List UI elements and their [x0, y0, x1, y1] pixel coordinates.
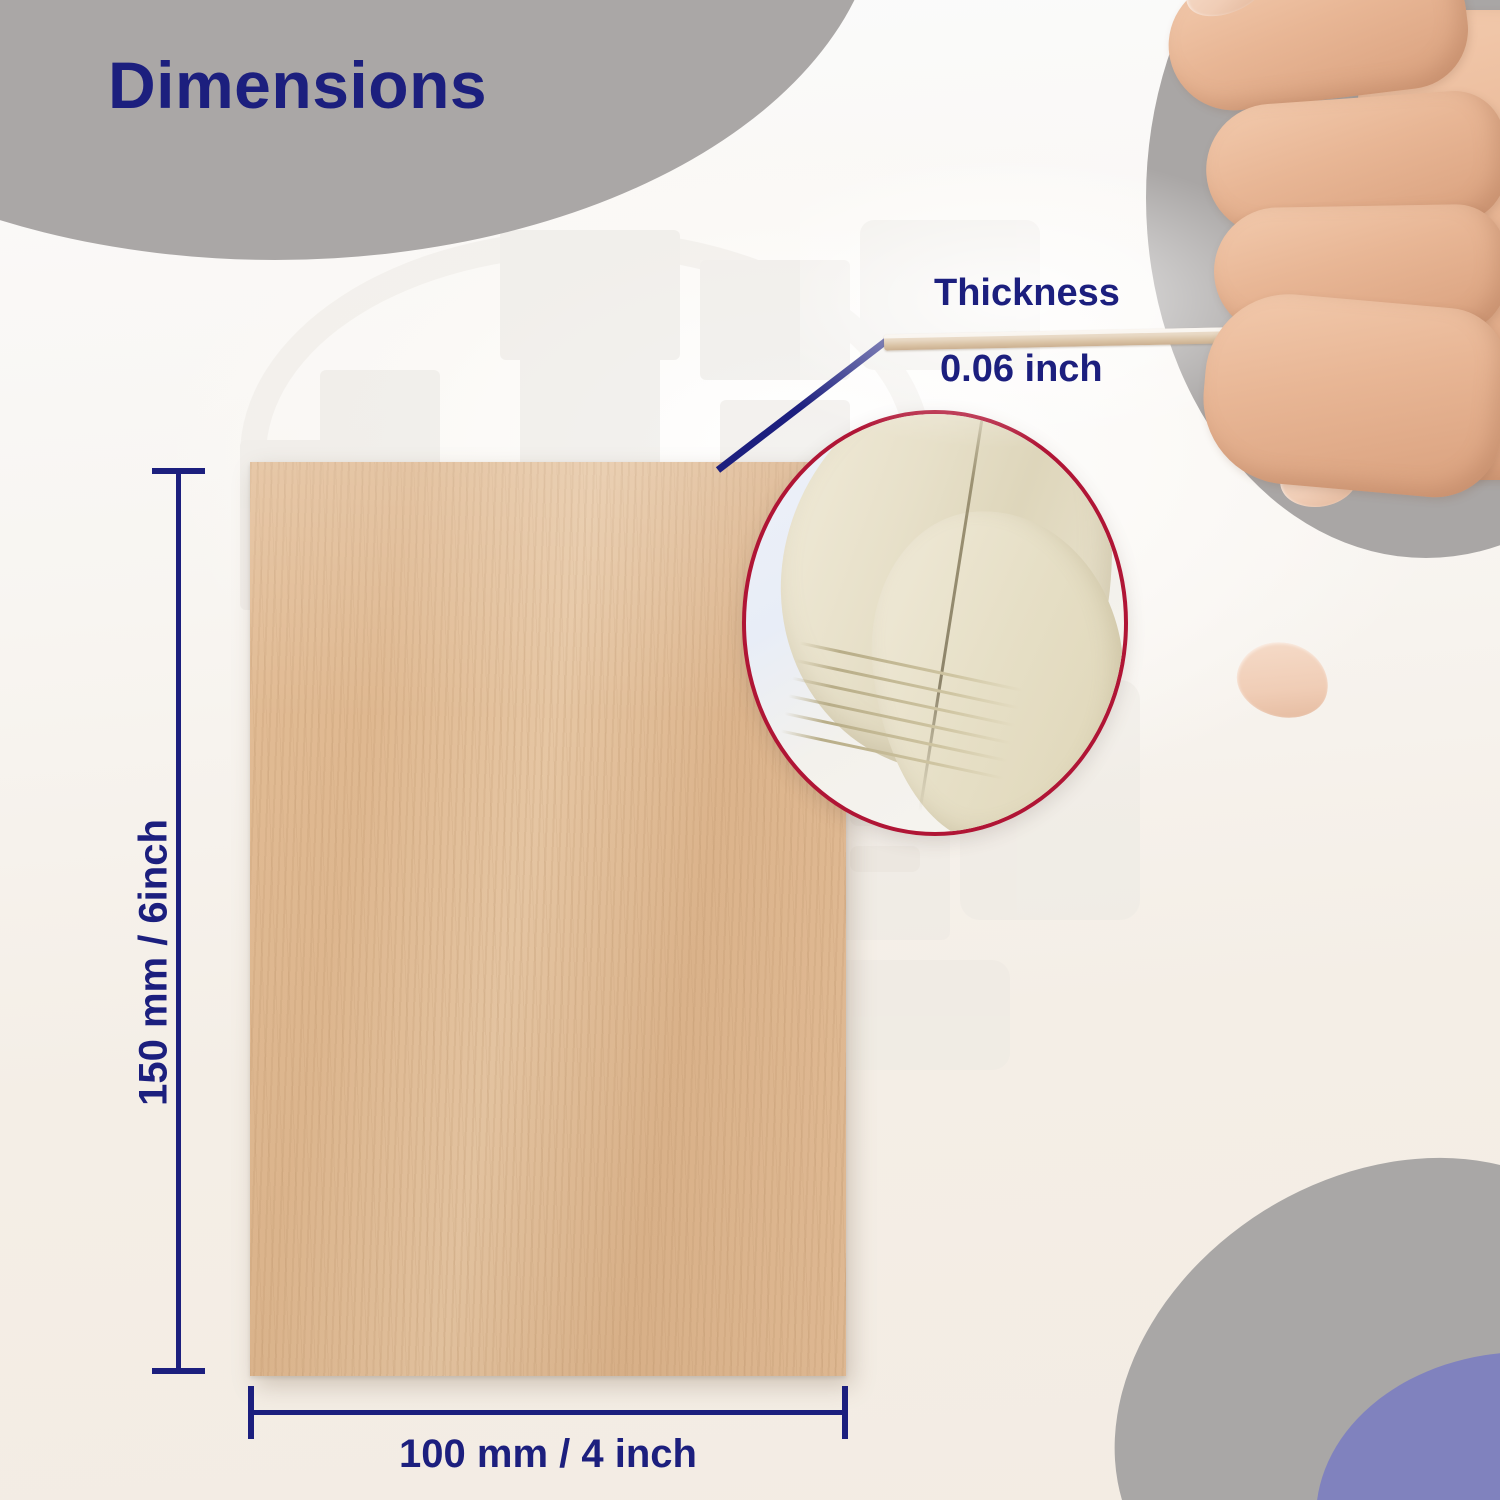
magnifier-circle-icon	[742, 410, 1128, 836]
thickness-value: 0.06 inch	[940, 348, 1103, 391]
width-dimension-line	[248, 1410, 848, 1415]
page-title: Dimensions	[108, 52, 487, 118]
height-dimension-cap-top	[152, 468, 205, 474]
height-dimension-label: 150 mm / 6inch	[132, 803, 177, 1123]
infographic-canvas: Dimensions Thickness 0.06 inch	[0, 0, 1500, 1500]
width-dimension-label: 100 mm / 4 inch	[248, 1432, 848, 1477]
height-dimension-cap-bottom	[152, 1368, 205, 1374]
height-dimension-line	[176, 468, 181, 1374]
hand-holding-sheet-icon	[1148, 0, 1500, 510]
thumb	[1196, 287, 1500, 502]
thickness-label: Thickness	[934, 272, 1120, 315]
fingernail	[1176, 0, 1276, 27]
